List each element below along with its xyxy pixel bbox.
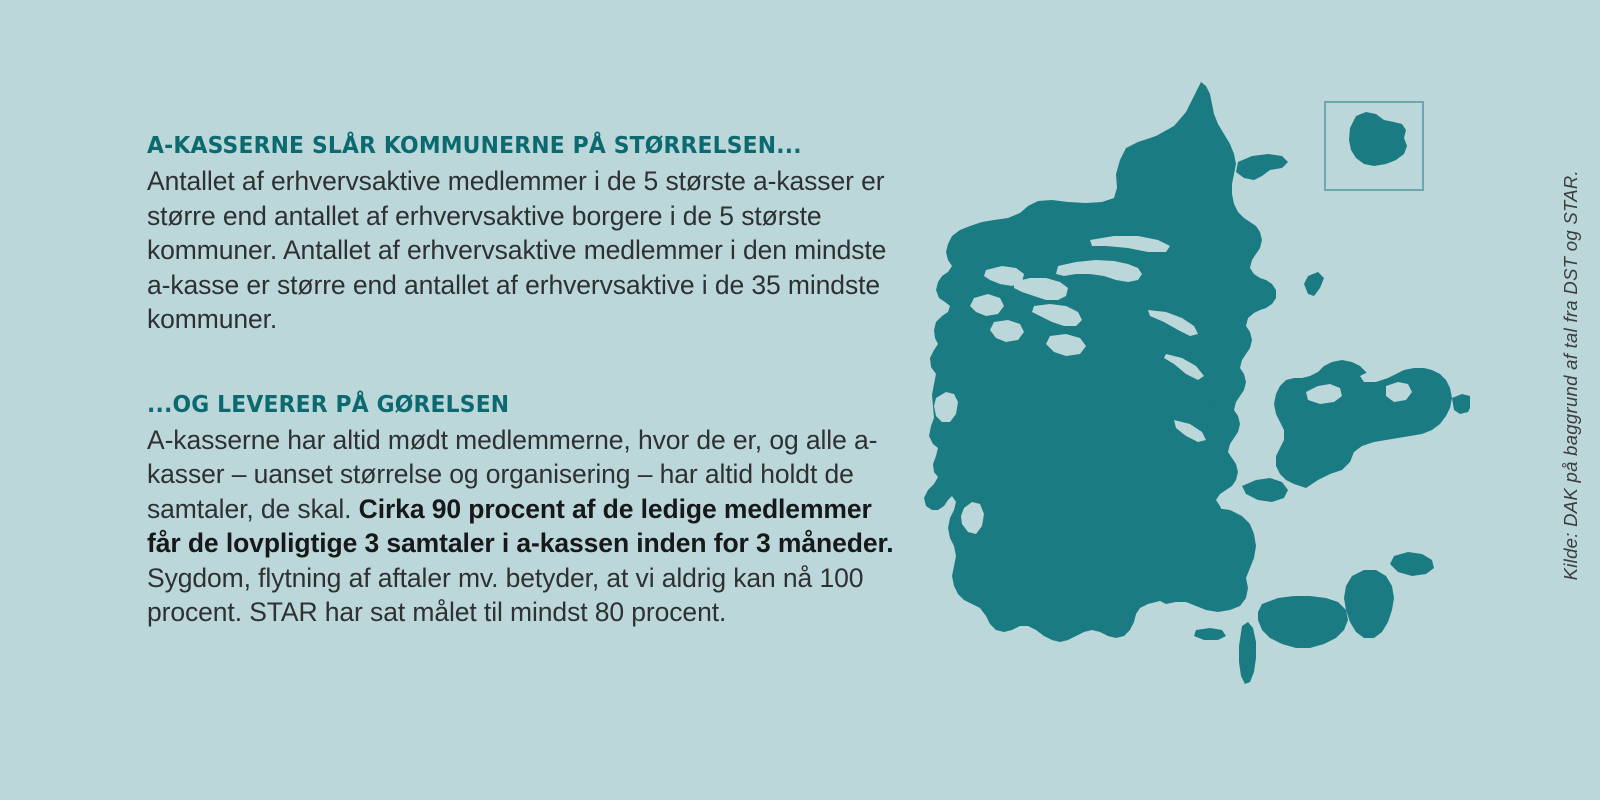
- island-langeland: [1239, 622, 1256, 684]
- zealand-northwest-spur: [1242, 478, 1288, 502]
- paragraph-delivery: A-kasserne har altid mødt medlemmerne, h…: [147, 423, 907, 630]
- text-block-statistics: A-KASSERNE SLÅR KOMMUNERNE PÅ STØRRELSEN…: [147, 132, 907, 337]
- island-aero: [1194, 628, 1226, 640]
- island-falster: [1344, 570, 1394, 638]
- island-anholt: [1304, 272, 1324, 296]
- island-moen: [1390, 552, 1434, 576]
- source-credit: Kilde: DAK på baggrund af tal fra DST og…: [1560, 170, 1582, 580]
- paragraph-delivery-tail: Sygdom, flytning af aftaler mv. betyder,…: [147, 563, 863, 628]
- island-bornholm: [1349, 112, 1407, 166]
- text-block-delivery: ...OG LEVERER PÅ GØRELSEN A-kasserne har…: [147, 391, 907, 630]
- text-column: A-KASSERNE SLÅR KOMMUNERNE PÅ STØRRELSEN…: [147, 132, 907, 630]
- denmark-map-container: [890, 70, 1470, 720]
- heading-og-leverer: ...OG LEVERER PÅ GØRELSEN: [147, 391, 854, 418]
- denmark-map-svg: [890, 70, 1470, 720]
- paragraph-statistics: Antallet af erhvervsaktive medlemmer i d…: [147, 164, 907, 337]
- infographic-canvas: A-KASSERNE SLÅR KOMMUNERNE PÅ STØRRELSEN…: [0, 0, 1600, 800]
- island-lolland: [1258, 596, 1348, 648]
- heading-a-kasserne: A-KASSERNE SLÅR KOMMUNERNE PÅ STØRRELSEN…: [147, 132, 854, 159]
- island-laesoe: [1236, 154, 1288, 180]
